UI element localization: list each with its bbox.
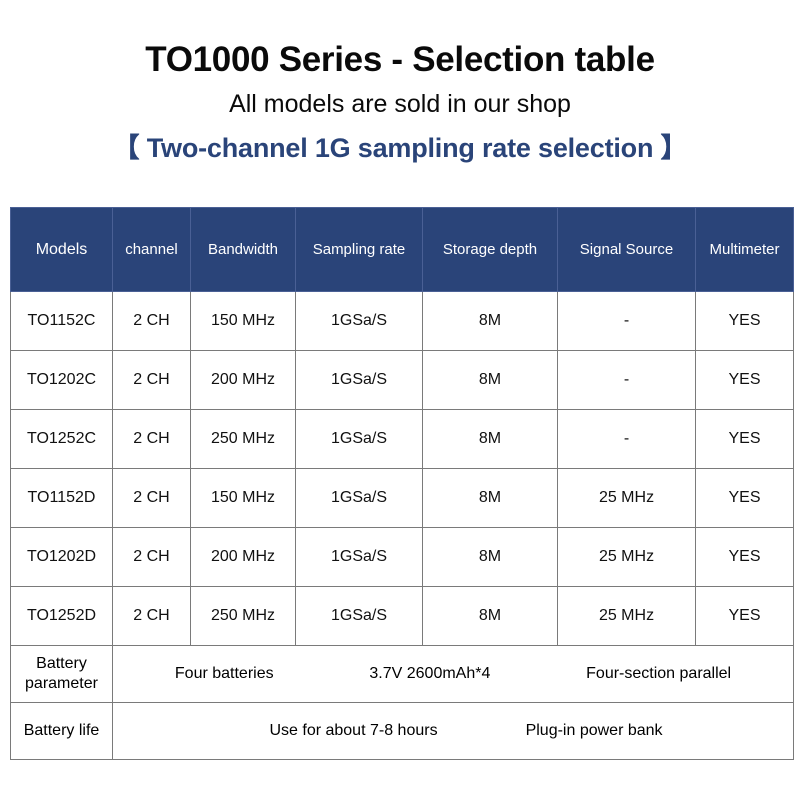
cell-storage-depth: 8M xyxy=(423,469,558,528)
battery-life-values: Use for about 7-8 hours Plug-in power ba… xyxy=(113,703,794,760)
battery-parameter-segments: Four batteries 3.7V 2600mAh*4 Four-secti… xyxy=(113,646,793,702)
battery-parameter-label-line2: parameter xyxy=(11,674,112,694)
cell-bandwidth: 200 MHz xyxy=(191,351,296,410)
table-header-row: Models channel Bandwidth Sampling rate S… xyxy=(11,208,794,292)
cell-storage-depth: 8M xyxy=(423,351,558,410)
battery-life-segment: Use for about 7-8 hours xyxy=(269,722,437,740)
cell-model: TO1202C xyxy=(11,351,113,410)
column-header-signal-source: Signal Source xyxy=(558,208,696,292)
cell-storage-depth: 8M xyxy=(423,410,558,469)
section-title: 【 Two-channel 1G sampling rate selection… xyxy=(0,133,800,164)
cell-signal-source: - xyxy=(558,351,696,410)
table-row: TO1252D 2 CH 250 MHz 1GSa/S 8M 25 MHz YE… xyxy=(11,587,794,646)
cell-signal-source: - xyxy=(558,410,696,469)
battery-life-segment: Plug-in power bank xyxy=(526,722,663,740)
cell-channel: 2 CH xyxy=(113,351,191,410)
cell-storage-depth: 8M xyxy=(423,292,558,351)
battery-parameter-label: Battery parameter xyxy=(11,646,113,703)
spec-sheet-page: TO1000 Series - Selection table All mode… xyxy=(0,0,800,800)
table-row: TO1152D 2 CH 150 MHz 1GSa/S 8M 25 MHz YE… xyxy=(11,469,794,528)
battery-life-segments: Use for about 7-8 hours Plug-in power ba… xyxy=(113,703,793,759)
cell-sampling-rate: 1GSa/S xyxy=(296,469,423,528)
cell-model: TO1152D xyxy=(11,469,113,528)
cell-signal-source: 25 MHz xyxy=(558,528,696,587)
cell-bandwidth: 150 MHz xyxy=(191,469,296,528)
cell-sampling-rate: 1GSa/S xyxy=(296,351,423,410)
cell-channel: 2 CH xyxy=(113,528,191,587)
cell-bandwidth: 150 MHz xyxy=(191,292,296,351)
title-block: TO1000 Series - Selection table All mode… xyxy=(0,0,800,164)
table-body: TO1152C 2 CH 150 MHz 1GSa/S 8M - YES TO1… xyxy=(11,292,794,760)
cell-bandwidth: 250 MHz xyxy=(191,410,296,469)
cell-model: TO1252D xyxy=(11,587,113,646)
cell-model: TO1252C xyxy=(11,410,113,469)
specification-table: Models channel Bandwidth Sampling rate S… xyxy=(10,207,794,760)
cell-sampling-rate: 1GSa/S xyxy=(296,292,423,351)
table-row: TO1252C 2 CH 250 MHz 1GSa/S 8M - YES xyxy=(11,410,794,469)
battery-parameter-values: Four batteries 3.7V 2600mAh*4 Four-secti… xyxy=(113,646,794,703)
page-subtitle: All models are sold in our shop xyxy=(0,90,800,119)
column-header-models: Models xyxy=(11,208,113,292)
cell-channel: 2 CH xyxy=(113,410,191,469)
table-row: TO1152C 2 CH 150 MHz 1GSa/S 8M - YES xyxy=(11,292,794,351)
cell-model: TO1202D xyxy=(11,528,113,587)
column-header-channel: channel xyxy=(113,208,191,292)
battery-parameter-segment: Four-section parallel xyxy=(586,665,731,683)
column-header-bandwidth: Bandwidth xyxy=(191,208,296,292)
cell-storage-depth: 8M xyxy=(423,587,558,646)
cell-signal-source: 25 MHz xyxy=(558,587,696,646)
cell-signal-source: 25 MHz xyxy=(558,469,696,528)
cell-multimeter: YES xyxy=(696,410,794,469)
cell-signal-source: - xyxy=(558,292,696,351)
column-header-sampling-rate: Sampling rate xyxy=(296,208,423,292)
table-header: Models channel Bandwidth Sampling rate S… xyxy=(11,208,794,292)
cell-multimeter: YES xyxy=(696,469,794,528)
cell-sampling-rate: 1GSa/S xyxy=(296,410,423,469)
cell-storage-depth: 8M xyxy=(423,528,558,587)
battery-parameter-segment: Four batteries xyxy=(175,665,274,683)
cell-channel: 2 CH xyxy=(113,469,191,528)
cell-channel: 2 CH xyxy=(113,292,191,351)
specification-table-container: Models channel Bandwidth Sampling rate S… xyxy=(10,207,793,760)
cell-sampling-rate: 1GSa/S xyxy=(296,587,423,646)
table-row: TO1202C 2 CH 200 MHz 1GSa/S 8M - YES xyxy=(11,351,794,410)
page-title: TO1000 Series - Selection table xyxy=(0,40,800,80)
battery-life-label: Battery life xyxy=(11,703,113,760)
cell-bandwidth: 250 MHz xyxy=(191,587,296,646)
cell-bandwidth: 200 MHz xyxy=(191,528,296,587)
battery-parameter-row: Battery parameter Four batteries 3.7V 26… xyxy=(11,646,794,703)
cell-channel: 2 CH xyxy=(113,587,191,646)
cell-multimeter: YES xyxy=(696,587,794,646)
cell-model: TO1152C xyxy=(11,292,113,351)
cell-multimeter: YES xyxy=(696,351,794,410)
table-row: TO1202D 2 CH 200 MHz 1GSa/S 8M 25 MHz YE… xyxy=(11,528,794,587)
battery-parameter-label-line1: Battery xyxy=(11,654,112,674)
cell-multimeter: YES xyxy=(696,528,794,587)
column-header-storage-depth: Storage depth xyxy=(423,208,558,292)
cell-multimeter: YES xyxy=(696,292,794,351)
battery-parameter-segment: 3.7V 2600mAh*4 xyxy=(369,665,490,683)
column-header-multimeter: Multimeter xyxy=(696,208,794,292)
battery-life-row: Battery life Use for about 7-8 hours Plu… xyxy=(11,703,794,760)
cell-sampling-rate: 1GSa/S xyxy=(296,528,423,587)
